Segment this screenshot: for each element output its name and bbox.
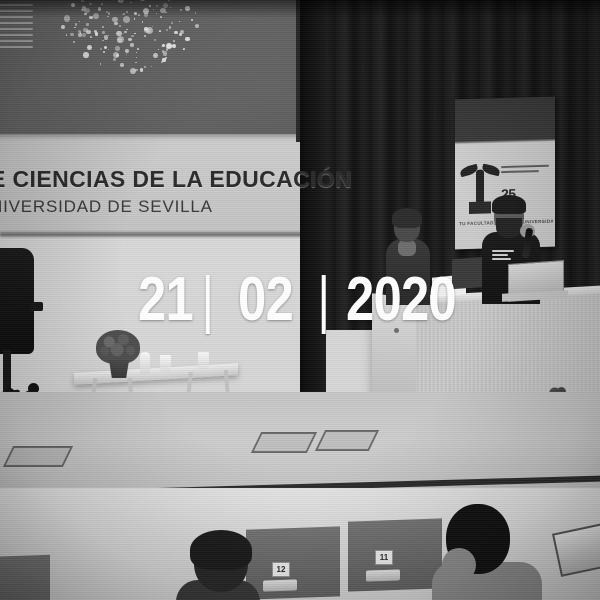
audience-desk-panel — [0, 555, 50, 600]
table-knob — [394, 328, 399, 333]
ceiling-shadow — [0, 0, 600, 18]
floor-hatch — [3, 446, 73, 467]
conference-photo: E CIENCIAS DE LA EDUCACIÓN NIVERSIDAD DE… — [0, 0, 600, 600]
office-chair — [0, 248, 34, 354]
seat-number-plate: 11 — [375, 550, 393, 565]
water-bottle — [140, 352, 150, 374]
faculty-sign-sub-line: NIVERSIDAD DE SEVILLA — [0, 197, 330, 217]
faculty-sign-main-line: E CIENCIAS DE LA EDUCACIÓN — [0, 166, 330, 193]
projection-screen — [0, 0, 302, 134]
floor-hatch — [315, 430, 379, 451]
office-chair-arm — [30, 302, 43, 311]
tshirt-print — [492, 250, 516, 262]
seat-number-plate: 12 — [272, 562, 290, 577]
banner-heading-lines — [501, 165, 551, 176]
potted-plant-on-table — [96, 330, 140, 378]
desk-handle — [366, 569, 400, 581]
floor-hatch — [251, 432, 317, 453]
audience-member — [176, 534, 260, 600]
desk-handle — [263, 579, 297, 591]
water-glass — [198, 352, 209, 369]
table-monitor — [452, 257, 486, 289]
wall-sign-shadow — [0, 232, 330, 237]
audience-member — [432, 504, 542, 600]
audience-desk-panel — [348, 518, 442, 591]
water-glass — [160, 355, 171, 372]
speaker-left — [386, 212, 430, 304]
